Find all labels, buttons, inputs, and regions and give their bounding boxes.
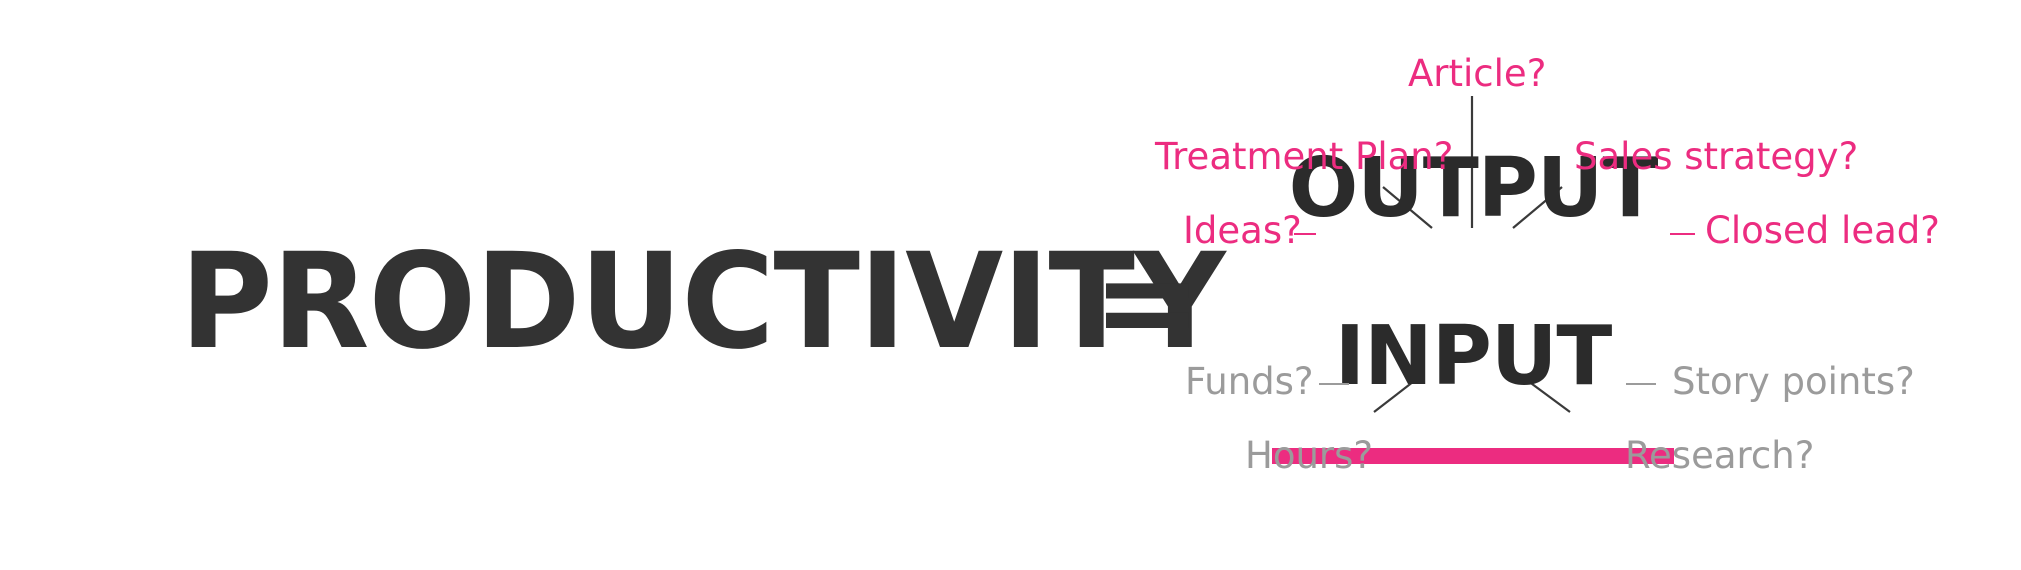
productivity-formula-graphic: PRODUCTIVITY = OUTPUT INPUT Treatment Pl… [0, 0, 2021, 570]
callout-research: Research? [1625, 437, 1814, 474]
dash-closed-lead [1670, 233, 1695, 235]
callout-ideas: Ideas? [1183, 212, 1302, 249]
callout-sales-strategy: Sales strategy? [1574, 138, 1858, 175]
callout-hours: Hours? [1245, 437, 1373, 474]
callout-funds: Funds? [1185, 363, 1314, 400]
callout-article: Article? [1408, 55, 1546, 92]
input-word: INPUT [1272, 316, 1674, 398]
dash-story-points [1626, 383, 1656, 385]
callout-closed-lead: Closed lead? [1705, 212, 1940, 249]
callout-story-points: Story points? [1672, 363, 1915, 400]
productivity-word: PRODUCTIVITY [180, 236, 1225, 368]
equals-sign: = [1092, 236, 1203, 368]
dash-ideas [1294, 233, 1316, 235]
callout-treatment-plan: Treatment Plan? [1155, 138, 1453, 175]
dash-funds [1319, 383, 1349, 385]
